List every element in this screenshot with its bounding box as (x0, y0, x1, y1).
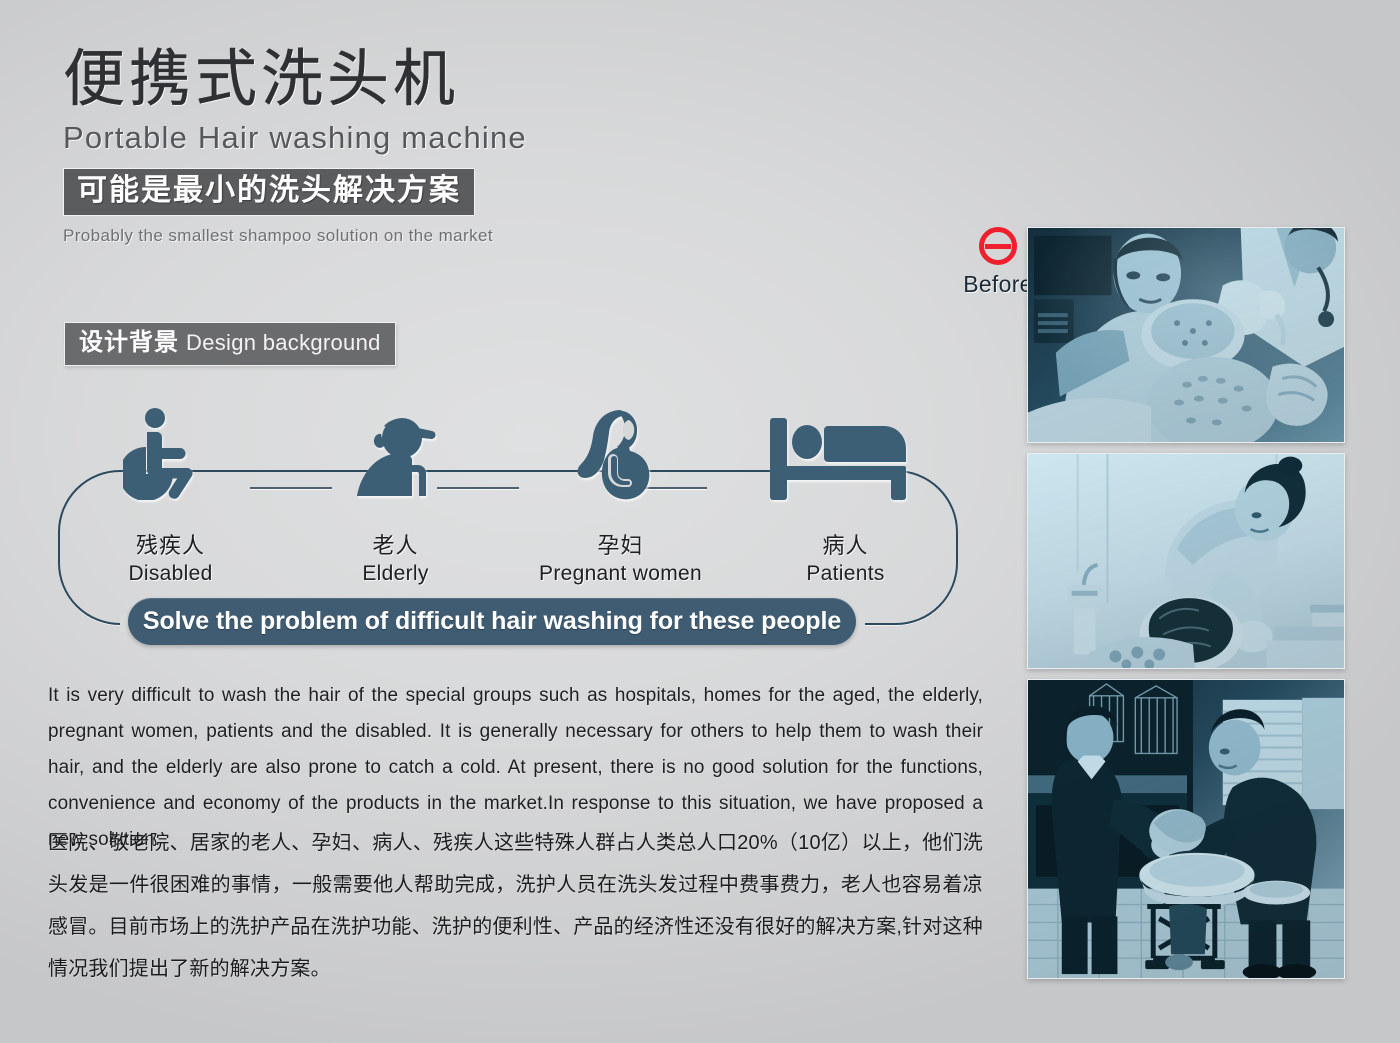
persona-label-cn: 残疾人 (128, 532, 212, 560)
title-block: 便携式洗头机 Portable Hair washing machine 可能是… (63, 44, 683, 247)
persona-disabled: 残疾人 Disabled (58, 408, 283, 588)
section-header-english: Design background (186, 329, 381, 357)
persona-label-en: Elderly (362, 560, 428, 588)
page-title-chinese: 便携式洗头机 (63, 44, 683, 116)
solution-statement-pill: Solve the problem of difficult hair wash… (128, 598, 856, 645)
persona-label-cn: 病人 (806, 532, 884, 560)
photo-stack (1027, 227, 1345, 979)
photo-two-men-washing-wheelchair-elderly-hair-basin (1027, 679, 1345, 979)
persona-labels-disabled: 残疾人 Disabled (128, 532, 212, 588)
poster-canvas: 便携式洗头机 Portable Hair washing machine 可能是… (0, 0, 1400, 1043)
subtitle-banner: 可能是最小的洗头解决方案 (63, 168, 475, 216)
persona-elderly: 老人 Elderly (283, 408, 508, 588)
persona-label-cn: 老人 (362, 532, 428, 560)
prohibition-sign-icon (979, 227, 1017, 265)
persona-label-en: Patients (806, 560, 884, 588)
persona-labels-elderly: 老人 Elderly (362, 532, 428, 588)
persona-label-en: Disabled (128, 560, 212, 588)
photo-caregiver-washing-patient-hair-bedside (1027, 453, 1345, 669)
persona-patients: 病人 Patients (733, 408, 958, 588)
persona-label-en: Pregnant women (539, 560, 702, 588)
subtitle-english: Probably the smallest shampoo solution o… (63, 225, 683, 247)
persona-labels-patients: 病人 Patients (806, 532, 884, 588)
photo-nurses-washing-elderly-patient-hair (1027, 227, 1345, 443)
solution-statement-text: Solve the problem of difficult hair wash… (143, 607, 841, 636)
elderly-person-icon (346, 408, 446, 500)
before-badge: Before (958, 227, 1038, 297)
persona-pregnant-women: 孕妇 Pregnant women (508, 408, 733, 588)
wheelchair-icon (123, 408, 219, 500)
patient-in-bed-icon (770, 408, 922, 500)
section-header-design-background: 设计背景 Design background (64, 322, 396, 366)
section-header-chinese: 设计背景 (79, 329, 179, 357)
pregnant-woman-icon (573, 408, 669, 500)
page-title-english: Portable Hair washing machine (63, 118, 683, 158)
persona-label-cn: 孕妇 (539, 532, 702, 560)
subtitle-chinese: 可能是最小的洗头解决方案 (77, 174, 461, 208)
persona-labels-pregnant: 孕妇 Pregnant women (539, 532, 702, 588)
persona-row: 残疾人 Disabled (58, 408, 958, 588)
body-paragraph-chinese: 医院、敬老院、居家的老人、孕妇、病人、残疾人这些特殊人群占人类总人口20%（10… (48, 822, 983, 990)
before-label: Before (958, 271, 1038, 297)
